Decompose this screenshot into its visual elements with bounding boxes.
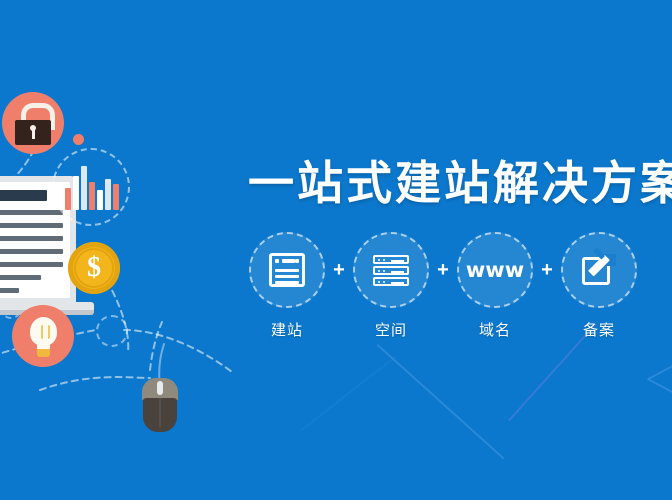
screen-header-bar <box>0 190 47 201</box>
feature-item-website[interactable]: 建站 <box>248 232 326 340</box>
mouse-scroll-wheel <box>157 381 163 395</box>
feature-circle-filing[interactable] <box>561 232 637 308</box>
webpage-icon-dot <box>275 259 279 263</box>
feature-circle-website[interactable] <box>249 232 325 308</box>
decor-stroke-1 <box>377 344 505 459</box>
bar-chart-bar <box>105 179 111 210</box>
bar-chart-bubble <box>52 148 130 226</box>
screen-text-line <box>0 236 63 241</box>
webpage-icon-line <box>275 275 299 278</box>
webpage-icon <box>269 253 305 287</box>
bar-chart-bar <box>65 188 71 210</box>
decor-dashed-loop-2 <box>96 315 128 347</box>
padlock-keystem <box>32 130 35 139</box>
webpage-icon-line <box>275 281 299 284</box>
coin-dollar-symbol: $ <box>68 242 120 294</box>
page-title: 一站式建站解决方案 <box>248 147 672 213</box>
server-icon <box>373 252 409 288</box>
feature-label-domain: 域名 <box>479 319 511 340</box>
bar-chart-bar <box>81 166 87 210</box>
padlock-icon <box>2 92 64 154</box>
bar-chart-bar <box>97 190 103 210</box>
decor-dot <box>73 134 84 145</box>
dollar-coin-icon: $ <box>68 242 120 294</box>
screen-text-line <box>0 288 19 293</box>
feature-label-website: 建站 <box>271 319 303 340</box>
screen-text-line <box>0 275 41 280</box>
mouse-button-split <box>159 398 161 428</box>
feature-item-hosting[interactable]: 空间 <box>352 232 430 340</box>
feature-row: 建站 + 空间 + <box>248 232 638 340</box>
decor-stroke-4 <box>648 362 672 380</box>
feature-separator-1: + <box>326 232 352 308</box>
feature-item-filing[interactable]: 备案 <box>560 232 638 340</box>
decor-stroke-5 <box>300 356 396 431</box>
webpage-icon-titlebar <box>282 259 295 263</box>
bar-chart-bar <box>73 176 79 210</box>
banner-canvas: $ 一站式建站解决方案 建站 <box>0 0 672 500</box>
bar-chart-bar <box>113 184 119 210</box>
www-icon: www <box>466 258 524 282</box>
feature-separator-2: + <box>430 232 456 308</box>
bar-chart-bars <box>65 164 119 210</box>
feature-item-domain[interactable]: www 域名 <box>456 232 534 340</box>
screen-text-line <box>0 262 63 267</box>
webpage-icon-dot <box>295 259 299 263</box>
bulb-filament <box>41 325 50 339</box>
edit-icon <box>582 253 616 287</box>
lightbulb-icon <box>12 305 74 367</box>
webpage-icon-line <box>275 269 299 272</box>
server-unit <box>373 266 409 275</box>
computer-mouse-illustration <box>142 378 178 432</box>
feature-separator-3: + <box>534 232 560 308</box>
server-unit <box>373 277 409 286</box>
feature-label-filing: 备案 <box>583 319 615 340</box>
feature-circle-domain[interactable]: www <box>457 232 533 308</box>
feature-label-hosting: 空间 <box>375 319 407 340</box>
bar-chart-bar <box>89 182 95 210</box>
screen-text-line <box>0 249 63 254</box>
bulb-cap <box>37 349 50 357</box>
decor-stroke-3 <box>647 378 672 396</box>
feature-circle-hosting[interactable] <box>353 232 429 308</box>
server-unit <box>373 255 409 264</box>
